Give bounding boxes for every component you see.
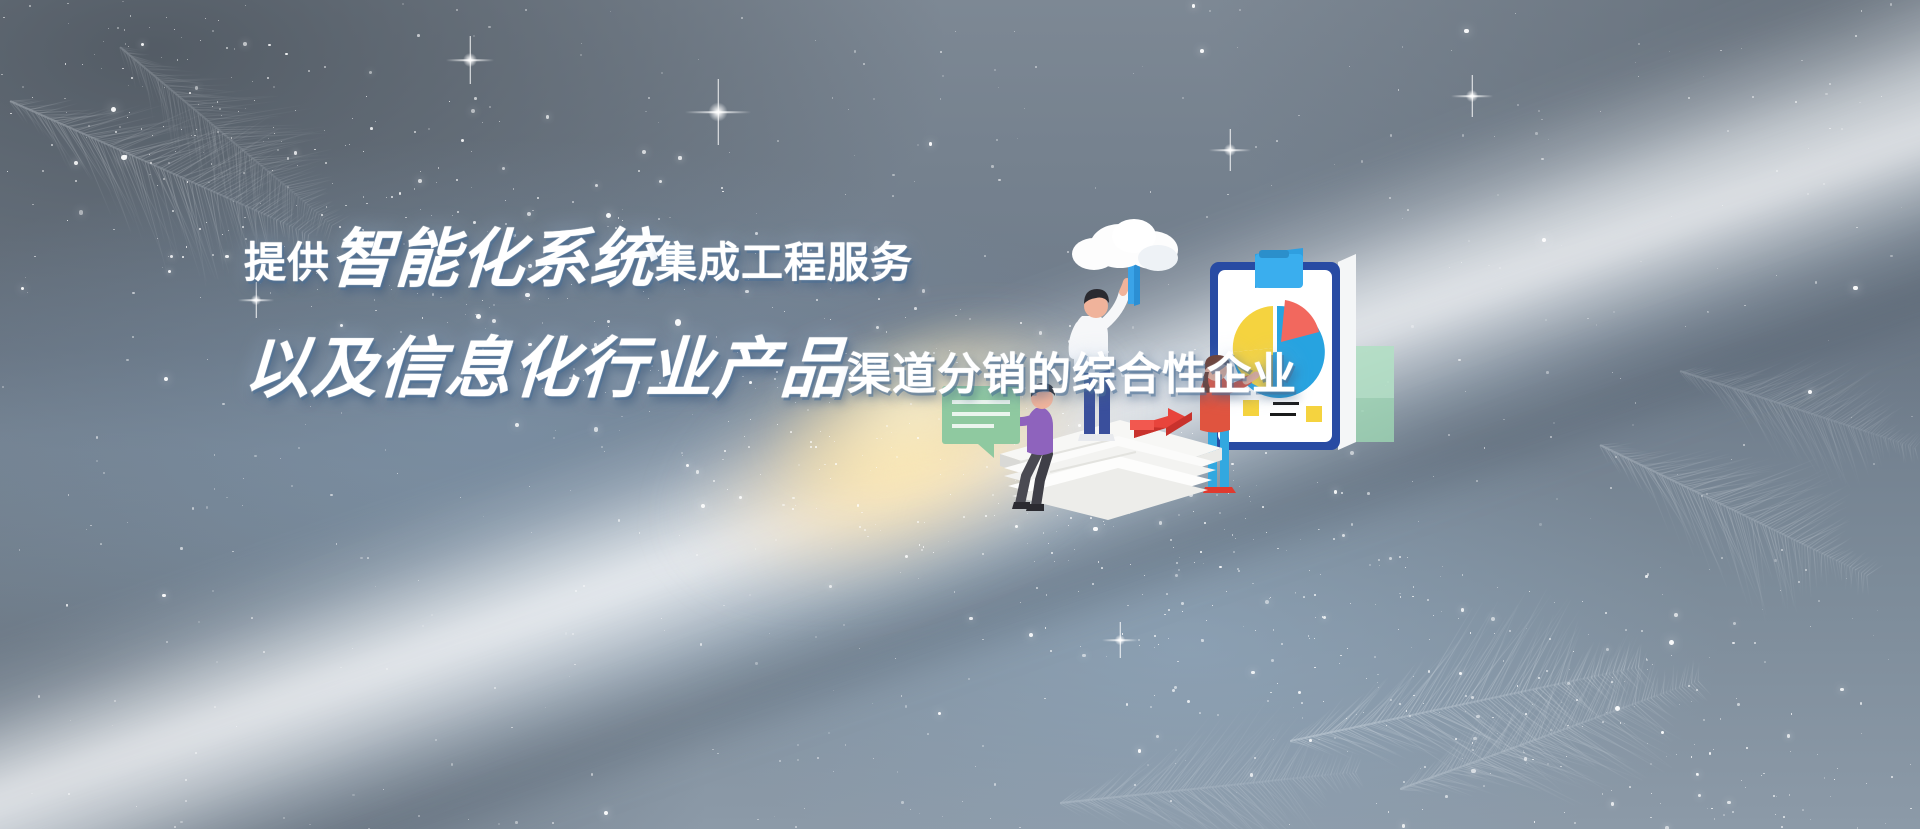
text-line-1 — [1273, 402, 1299, 405]
headline-l1-part-3: 集成工程服务 — [655, 242, 913, 284]
headline-l2-part-2: 信息化行业产品 — [376, 336, 848, 402]
headline-line-2: 以及信息化行业产品渠道分销的综合性企业 — [244, 336, 1304, 402]
headline-line-1: 提供智能化系统集成工程服务 — [244, 228, 1304, 292]
headline-block: 提供智能化系统集成工程服务 以及信息化行业产品渠道分销的综合性企业 — [244, 228, 1304, 402]
text-line-2 — [1270, 413, 1296, 416]
headline-l1-part-2: 智能化系统 — [328, 228, 656, 292]
headline-l2-part-1: 以及 — [242, 336, 379, 402]
headline-l2-part-3: 渠道分销的综合性企业 — [847, 353, 1297, 397]
headline-l1-part-1: 提供 — [244, 242, 330, 284]
note-icon-1 — [1243, 400, 1259, 416]
hero-banner: 提供智能化系统集成工程服务 以及信息化行业产品渠道分销的综合性企业 — [0, 0, 1920, 829]
note-icon-2 — [1306, 406, 1322, 422]
